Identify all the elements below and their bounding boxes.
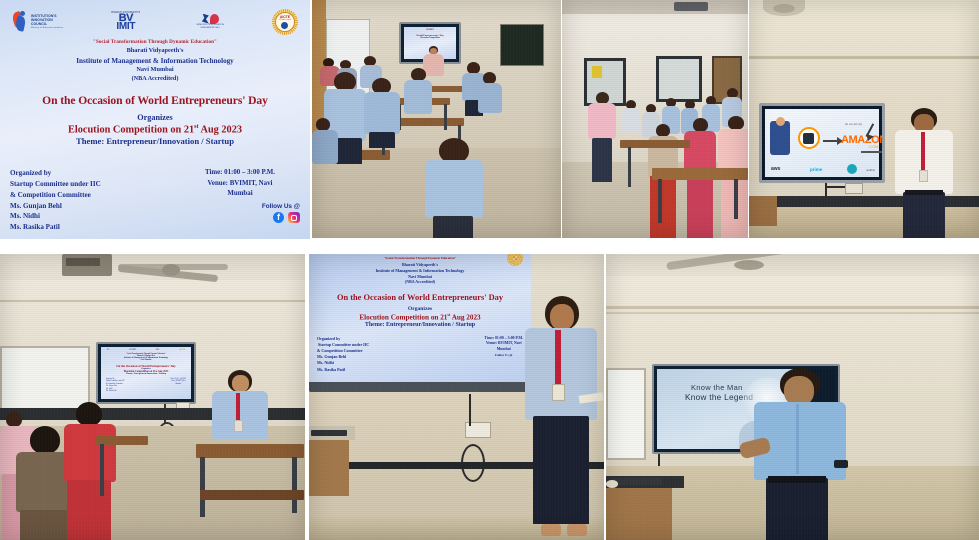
organizer-item: Startup Committee under IIC	[10, 179, 101, 190]
institute-line-4: (NBA Accredited)	[8, 75, 302, 84]
presenter	[212, 370, 268, 448]
photo-faculty-interaction	[562, 0, 748, 238]
iic-logo: INSTITUTION'S INNOVATION COUNCIL Ministr…	[12, 11, 63, 32]
poster-logo-row: INSTITUTION'S INNOVATION COUNCIL Ministr…	[8, 5, 302, 38]
faculty-member	[588, 92, 616, 184]
iic-emblem-icon	[12, 11, 29, 32]
bvimit-logo: BHARATI VIDYAPEETH'S BV IMIT	[103, 10, 149, 34]
facebook-icon[interactable]: f	[273, 212, 284, 223]
presenter	[525, 296, 597, 540]
smart-display: IIC BVIMIT MIC AICTE "Social Transformat…	[96, 342, 196, 404]
poster-institute-block: Bharati Vidyapeeth's Institute of Manage…	[8, 47, 302, 84]
smart-display: AMAZON .COM the one and only aws prime a…	[759, 103, 885, 183]
photo-collage: INSTITUTION'S INNOVATION COUNCIL Ministr…	[0, 0, 979, 540]
social-icons: f	[180, 212, 300, 223]
photo-female-presenter-poster: "Social Transformation Through Dynamic E…	[309, 254, 604, 540]
event-poster: INSTITUTION'S INNOVATION COUNCIL Ministr…	[0, 0, 310, 239]
whiteboard	[606, 368, 646, 460]
instagram-icon[interactable]	[288, 212, 300, 223]
innovation-cell-logo: MINISTRY OF EDUCATION INNOVATION CELL	[188, 10, 232, 34]
slide-line-1: Know the Man	[691, 383, 743, 392]
organizer-item: Ms. Rasika Patil	[10, 222, 101, 233]
organizer-item: Ms. Nidhi	[10, 211, 101, 222]
photo-amazon-presentation: AMAZON .COM the one and only aws prime a…	[749, 0, 979, 238]
organized-by-label: Organized by	[10, 168, 101, 179]
iic-logo-text: INSTITUTION'S INNOVATION COUNCIL Ministr…	[31, 14, 63, 30]
photo-classroom-audience: BVIMIT World Entrepreneurs' Day Elocutio…	[312, 0, 561, 238]
presenter	[754, 368, 846, 540]
institute-line-2: Institute of Management & Information Te…	[8, 56, 302, 66]
presenter	[895, 108, 953, 238]
innovation-cell-emblem-icon	[202, 13, 219, 24]
event-venue-line-2: Mumbai	[180, 189, 300, 199]
venue-column: Time: 01:00 – 3:00 P.M. Venue: BVIMIT, N…	[180, 168, 300, 233]
institute-line-1: Bharati Vidyapeeth's	[8, 47, 302, 56]
organizer-item: Ms. Gunjan Behl	[10, 201, 101, 212]
event-time: Time: 01:00 – 3:00 P.M.	[180, 168, 300, 178]
aicte-emblem-icon	[281, 22, 288, 29]
institute-line-3: Navi Mumbai	[8, 66, 302, 75]
photo-male-presenter-legend: Know the Man Know the Legend	[606, 254, 979, 540]
photo-female-presenter-wide: IIC BVIMIT MIC AICTE "Social Transformat…	[0, 254, 305, 540]
organizer-column: Organized by Startup Committee under IIC…	[10, 168, 101, 233]
poster-headline: On the Occasion of World Entrepreneurs' …	[8, 94, 302, 107]
organizer-item: & Competition Committee	[10, 190, 101, 201]
event-venue-line-1: Venue: BVIMIT, Navi	[180, 179, 300, 189]
poster-tagline: "Social Transformation Through Dynamic E…	[8, 39, 302, 45]
poster-footer: Organized by Startup Committee under IIC…	[8, 168, 302, 235]
poster-theme-line: Theme: Entrepreneur/Innovation / Startup	[8, 136, 302, 146]
projected-poster: "Social Transformation Through Dynamic E…	[309, 254, 531, 382]
poster-organizes-label: Organizes	[8, 113, 302, 122]
poster-competition-line: Elocution Competition on 21st Aug 2023	[8, 124, 302, 135]
aicte-logo: AICTE All India Council	[272, 9, 298, 35]
follow-us-label: Follow Us @	[180, 203, 300, 210]
